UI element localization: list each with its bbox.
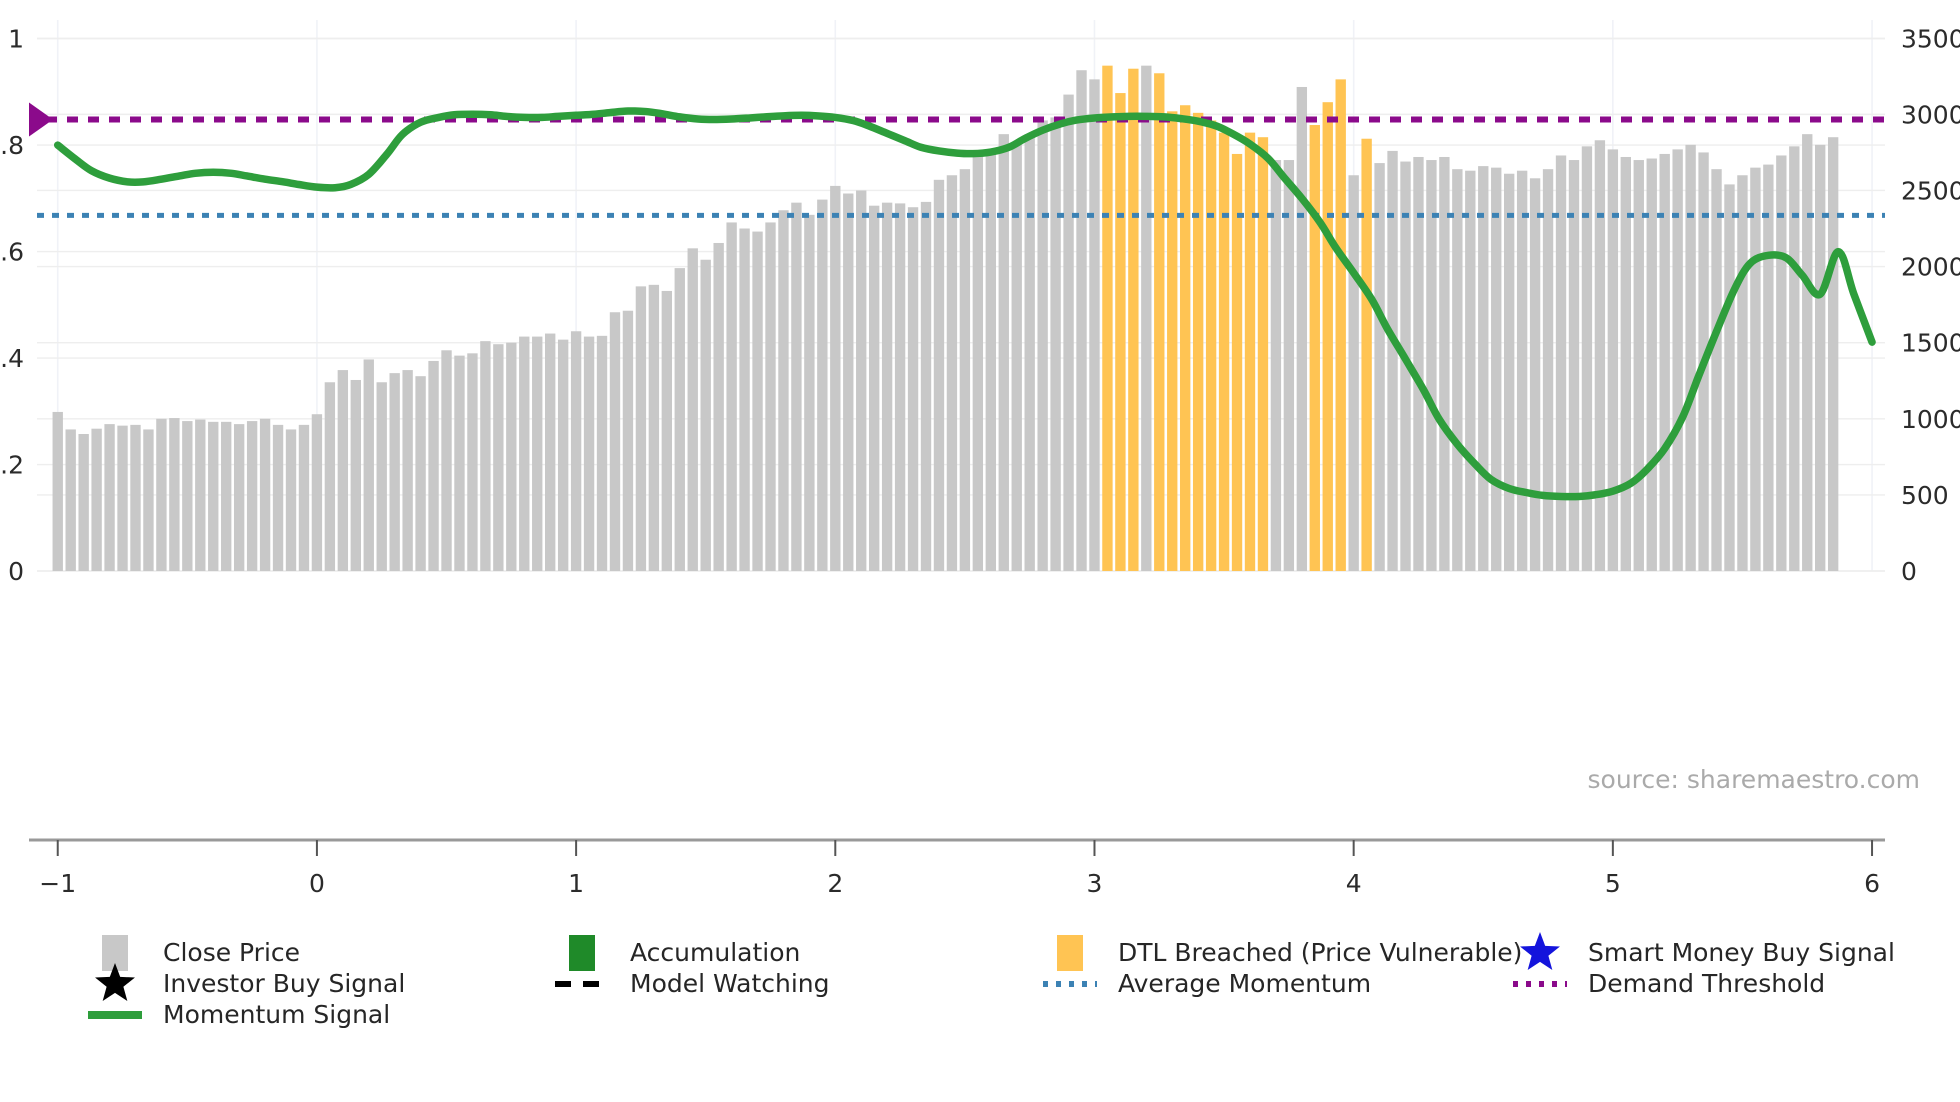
close-price-bar: [597, 336, 607, 571]
close-price-bar: [1685, 145, 1695, 571]
dtl-breached-bar: [1336, 79, 1346, 571]
close-price-bar: [1517, 171, 1527, 571]
close-price-bar: [882, 203, 892, 571]
close-price-bar: [713, 243, 723, 571]
close-price-bar: [999, 134, 1009, 571]
y-axis-right-tick-label: 3500: [1901, 24, 1960, 53]
close-price-bar: [817, 200, 827, 571]
close-price-bar: [726, 222, 736, 571]
close-price-bar: [182, 421, 192, 571]
green-square-icon: [569, 935, 595, 971]
close-price-bar: [260, 419, 270, 571]
legend-label: Accumulation: [630, 938, 800, 967]
close-price-bar: [843, 194, 853, 571]
dtl-breached-bar: [1206, 120, 1216, 571]
close-price-bar: [1815, 145, 1825, 571]
close-price-bar: [208, 422, 218, 571]
x-axis-tick-label: 0: [309, 869, 325, 898]
close-price-bar: [1582, 146, 1592, 571]
close-price-bar: [1037, 120, 1047, 571]
close-price-bar: [752, 232, 762, 571]
close-price-bar: [675, 268, 685, 571]
close-price-bar: [428, 361, 438, 571]
x-axis-tick-label: 5: [1605, 869, 1621, 898]
close-price-bar: [739, 229, 749, 571]
y-axis-left-tick-label: 0: [8, 557, 24, 586]
close-price-bar: [1789, 146, 1799, 571]
close-price-bar: [299, 425, 309, 571]
close-price-bar: [402, 370, 412, 571]
dtl-breached-bar: [1102, 66, 1112, 571]
dtl-breached-bar: [1219, 133, 1229, 571]
legend-label: DTL Breached (Price Vulnerable): [1118, 938, 1522, 967]
close-price-bar: [960, 169, 970, 571]
close-price-bar: [1089, 79, 1099, 571]
y-axis-right-tick-label: 2500: [1901, 176, 1960, 205]
close-price-bar: [467, 353, 477, 571]
close-price-bar: [454, 356, 464, 571]
dtl-breached-bar: [1115, 93, 1125, 571]
x-axis-tick-label: 4: [1346, 869, 1362, 898]
close-price-bar: [1413, 157, 1423, 571]
close-price-bar: [364, 359, 374, 571]
close-price-bar: [921, 202, 931, 571]
close-price-bar: [389, 373, 399, 571]
close-price-bar: [791, 203, 801, 571]
x-axis-tick-label: −1: [39, 869, 76, 898]
close-price-bar: [312, 414, 322, 571]
y-axis-left-tick-label: 0.2: [0, 451, 24, 480]
dtl-breached-bar: [1361, 139, 1371, 571]
close-price-bar: [804, 215, 814, 571]
dtl-breached-bar: [1167, 111, 1177, 571]
close-price-bar: [1737, 175, 1747, 571]
close-price-bar: [1491, 168, 1501, 571]
legend-label: Demand Threshold: [1588, 969, 1825, 998]
close-price-bar: [662, 291, 672, 571]
close-price-bar: [830, 186, 840, 571]
close-price-bar: [947, 175, 957, 571]
close-price-bar: [273, 425, 283, 571]
close-price-bar: [1647, 159, 1657, 571]
legend-label: Model Watching: [630, 969, 830, 998]
close-price-bar: [545, 334, 555, 571]
close-price-bar: [247, 421, 257, 571]
close-price-bar: [1478, 166, 1488, 571]
close-price-bar: [1465, 171, 1475, 571]
close-price-bar: [973, 154, 983, 571]
close-price-bar: [895, 203, 905, 571]
close-price-bar: [1050, 117, 1060, 571]
dtl-breached-bar: [1310, 125, 1320, 571]
close-price-bar: [1271, 160, 1281, 571]
close-price-bar: [1284, 160, 1294, 571]
close-price-bar: [1504, 174, 1514, 571]
legend-label: Close Price: [163, 938, 300, 967]
source-attribution: source: sharemaestro.com: [1588, 765, 1921, 794]
close-price-bar: [1608, 149, 1618, 571]
close-price-bar: [519, 337, 529, 571]
close-price-bar: [1802, 134, 1812, 571]
orange-square-icon: [1057, 935, 1083, 971]
close-price-bar: [636, 286, 646, 571]
close-price-bar: [1374, 163, 1384, 571]
close-price-bar: [1025, 134, 1035, 571]
dtl-breached-bar: [1180, 105, 1190, 571]
y-axis-left-tick-label: 0.6: [0, 238, 24, 267]
close-price-bar: [778, 210, 788, 571]
close-price-bar: [1634, 160, 1644, 571]
close-price-bar: [117, 426, 127, 571]
close-price-bar: [143, 429, 153, 571]
close-price-bar: [1012, 145, 1022, 571]
close-price-bar: [156, 419, 166, 571]
legend-item[interactable]: DTL Breached (Price Vulnerable): [1057, 935, 1522, 971]
close-price-bar: [1569, 160, 1579, 571]
close-price-bar: [325, 382, 335, 571]
close-price-bar: [169, 418, 179, 571]
close-price-bar: [571, 331, 581, 571]
chart-figure: 00.20.40.60.81 0500100015002000250030003…: [0, 0, 1960, 1102]
close-price-bar: [1543, 169, 1553, 571]
close-price-bar: [493, 344, 503, 571]
close-price-bar: [1452, 169, 1462, 571]
close-price-bar: [934, 180, 944, 571]
close-price-bar: [441, 350, 451, 571]
close-price-bar: [1297, 87, 1307, 571]
y-axis-right-tick-label: 3000: [1901, 100, 1960, 129]
close-price-bar: [532, 337, 542, 571]
close-price-bar: [1672, 149, 1682, 571]
y-axis-left-tick-label: 1: [8, 25, 24, 54]
close-price-bar: [558, 340, 568, 571]
close-price-bar: [1763, 165, 1773, 571]
close-price-bar: [338, 370, 348, 571]
close-price-bar: [908, 207, 918, 571]
close-price-bar: [1724, 184, 1734, 571]
close-price-bar: [856, 190, 866, 571]
close-price-bar: [415, 376, 425, 571]
close-price-bar: [1076, 70, 1086, 571]
y-axis-right-tick-label: 1500: [1901, 329, 1960, 358]
close-price-bar: [351, 380, 361, 571]
close-price-bar: [1063, 95, 1073, 571]
chart-canvas: 00.20.40.60.81 0500100015002000250030003…: [0, 0, 1960, 1102]
close-price-bar: [688, 248, 698, 571]
close-price-bar: [701, 260, 711, 571]
close-price-bar: [765, 222, 775, 571]
close-price-bar: [234, 424, 244, 571]
close-price-bar: [130, 425, 140, 571]
close-price-bar: [1750, 168, 1760, 571]
y-axis-right-tick-label: 0: [1901, 557, 1917, 586]
x-axis-tick-label: 2: [827, 869, 843, 898]
close-price-bar: [1621, 157, 1631, 571]
x-axis-tick-label: 6: [1864, 869, 1880, 898]
y-axis-left-tick-label: 0.4: [0, 344, 24, 373]
close-price-bar: [506, 343, 516, 571]
legend-label: Investor Buy Signal: [163, 969, 405, 998]
close-price-bar: [584, 337, 594, 571]
close-price-bar: [91, 429, 101, 571]
dtl-breached-bar: [1154, 73, 1164, 571]
close-price-bar: [1426, 160, 1436, 571]
close-price-bar: [66, 429, 76, 571]
close-price-bar: [1439, 157, 1449, 571]
close-price-bar: [221, 422, 231, 571]
dtl-breached-bar: [1245, 133, 1255, 571]
y-axis-right-tick-label: 500: [1901, 481, 1949, 510]
close-price-bar: [78, 434, 88, 571]
y-axis-right-tick-label: 1000: [1901, 405, 1960, 434]
close-price-bar: [53, 412, 63, 571]
close-price-bar: [1141, 66, 1151, 571]
legend-label: Average Momentum: [1118, 969, 1371, 998]
y-axis-right-tick-label: 2000: [1901, 253, 1960, 282]
close-price-bar: [869, 206, 879, 571]
dtl-breached-bar: [1258, 137, 1268, 571]
close-price-bar: [610, 312, 620, 571]
close-price-bar: [480, 341, 490, 571]
x-axis-tick-label: 3: [1087, 869, 1103, 898]
legend-label: Smart Money Buy Signal: [1588, 938, 1895, 967]
close-price-bar: [623, 311, 633, 571]
close-price-bar: [377, 382, 387, 571]
dtl-breached-bar: [1193, 113, 1203, 571]
close-price-bar: [1595, 140, 1605, 571]
close-price-bar: [649, 285, 659, 571]
close-price-bar: [1828, 137, 1838, 571]
close-price-bar: [1348, 175, 1358, 571]
close-price-bar: [104, 424, 114, 571]
dtl-breached-bar: [1128, 69, 1138, 571]
close-price-bar: [1711, 169, 1721, 571]
dtl-breached-bar: [1323, 102, 1333, 571]
close-price-bar: [286, 429, 296, 571]
x-axis-tick-label: 1: [568, 869, 584, 898]
close-price-bar: [195, 420, 205, 571]
y-axis-left-tick-label: 0.8: [0, 131, 24, 160]
close-price-bar: [1530, 178, 1540, 571]
legend-label: Momentum Signal: [163, 1000, 390, 1029]
